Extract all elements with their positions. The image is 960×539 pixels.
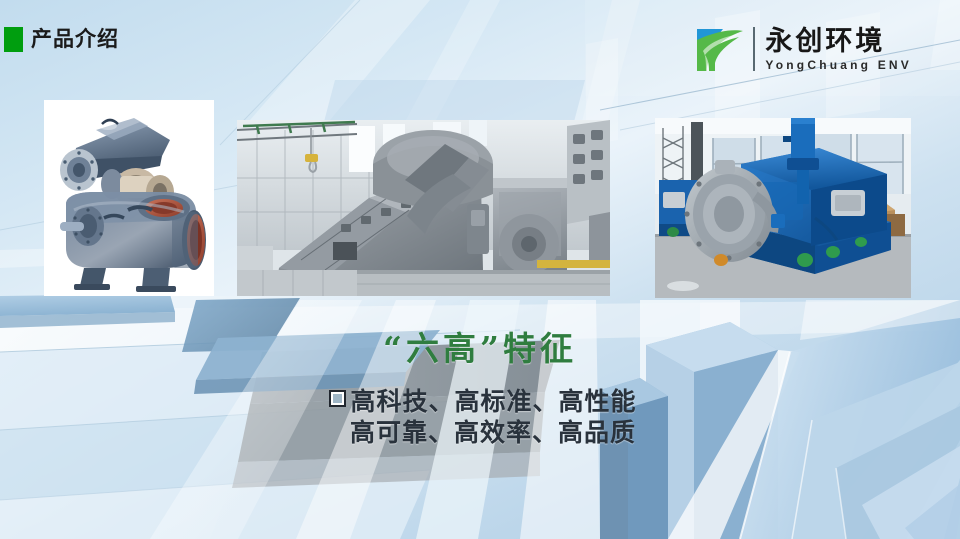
yongchuang-leaf-mark-icon — [693, 25, 745, 73]
presentation-slide: 产品介绍 永创环境 YongChuang ENV — [0, 0, 960, 539]
split-case-pump-product-photo — [44, 100, 214, 296]
feature-heading: “六高”特征 — [0, 328, 960, 370]
feature-line-2: 高可靠、高效率、高品质 — [0, 417, 960, 448]
slide-header: 产品介绍 永创环境 YongChuang ENV — [0, 0, 960, 82]
title-marker-square — [4, 27, 23, 52]
company-logo: 永创环境 YongChuang ENV — [693, 22, 912, 76]
blue-pump-unit-illustration — [655, 118, 911, 298]
factory-gray-machinery-photo — [237, 120, 610, 296]
factory-machinery-illustration — [237, 120, 610, 296]
feature-line-1: 高科技、高标准、高性能 — [0, 386, 960, 417]
page-title: 产品介绍 — [31, 26, 119, 53]
square-bullet-icon — [329, 390, 346, 407]
feature-line-1-text: 高科技、高标准、高性能 — [350, 387, 636, 416]
logo-company-name-cn: 永创环境 — [765, 27, 912, 57]
pump-product-illustration — [44, 100, 214, 296]
feature-text-block: 高科技、高标准、高性能 高可靠、高效率、高品质 — [0, 386, 960, 448]
logo-text-block: 永创环境 YongChuang ENV — [765, 27, 912, 72]
logo-divider — [753, 27, 755, 71]
blue-pump-unit-photo — [655, 118, 911, 298]
logo-company-name-en: YongChuang ENV — [765, 58, 912, 72]
